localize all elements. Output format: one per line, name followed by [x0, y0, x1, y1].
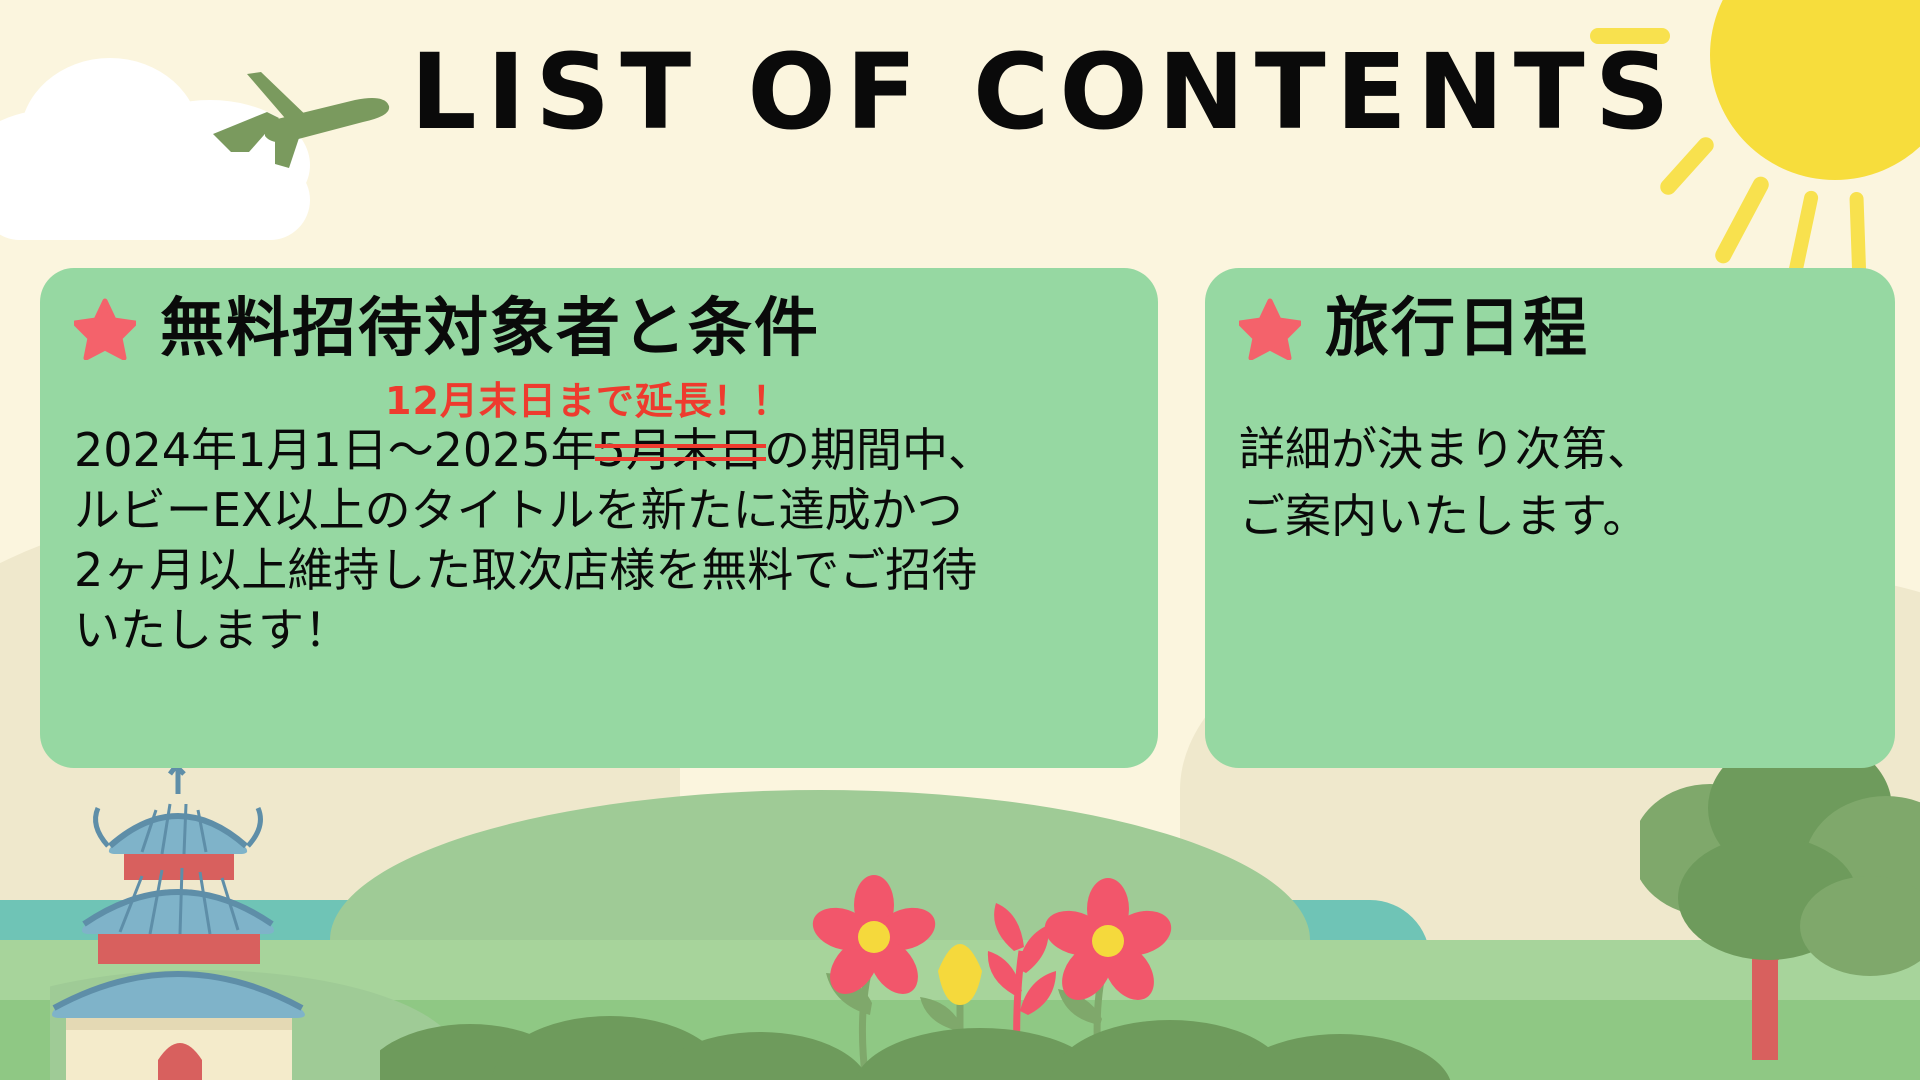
- struck-date: 5月末日: [597, 421, 764, 481]
- card-title: 旅行日程: [1325, 294, 1589, 364]
- card-body: 詳細が決まり次第、 ご案内いたします。: [1239, 416, 1861, 549]
- star-icon: [74, 298, 136, 360]
- tree-icon: [1640, 730, 1920, 1080]
- content-card-conditions: 無料招待対象者と条件 12月末日まで延長！！ 2024年1月1日〜2025年5月…: [40, 268, 1158, 768]
- body-line: 2024年1月1日〜2025年5月末日の期間中、: [74, 421, 1124, 481]
- content-card-schedule: 旅行日程 詳細が決まり次第、 ご案内いたします。: [1205, 268, 1895, 768]
- card-title: 無料招待対象者と条件: [160, 294, 820, 364]
- star-icon: [1239, 298, 1301, 360]
- body-line: ご案内いたします。: [1239, 483, 1861, 550]
- ground-shape-front: [0, 1000, 1920, 1080]
- slide-canvas: LIST OF CONTENTS 無料招待対象者と条件 12月末日まで延長！！ …: [0, 0, 1920, 1080]
- hill-shape-middle: [330, 790, 1310, 1080]
- water-shape: [0, 900, 1430, 970]
- body-line: 2ヶ月以上維持した取次店様を無料でご招待: [74, 541, 1124, 601]
- page-title: LIST OF CONTENTS: [0, 38, 1920, 147]
- cards-container: 無料招待対象者と条件 12月末日まで延長！！ 2024年1月1日〜2025年5月…: [0, 268, 1920, 768]
- extension-note: 12月末日まで延長！！: [74, 370, 1124, 425]
- card-header: 旅行日程: [1239, 294, 1861, 364]
- card-body: 2024年1月1日〜2025年5月末日の期間中、 ルビーEX以上のタイトルを新た…: [74, 421, 1124, 660]
- body-line: いたします！: [74, 601, 1124, 661]
- bushes-icon: [380, 990, 1480, 1080]
- body-line-pre: 2024年1月1日〜2025年: [74, 423, 597, 477]
- card-header: 無料招待対象者と条件: [74, 294, 1124, 364]
- pagoda-icon: [50, 760, 470, 1080]
- body-line: 詳細が決まり次第、: [1239, 416, 1861, 483]
- flowers-icon: [770, 855, 1190, 1080]
- body-line: ルビーEX以上のタイトルを新たに達成かつ: [74, 481, 1124, 541]
- ground-shape: [0, 940, 1920, 1080]
- body-line-post: の期間中、: [764, 423, 994, 477]
